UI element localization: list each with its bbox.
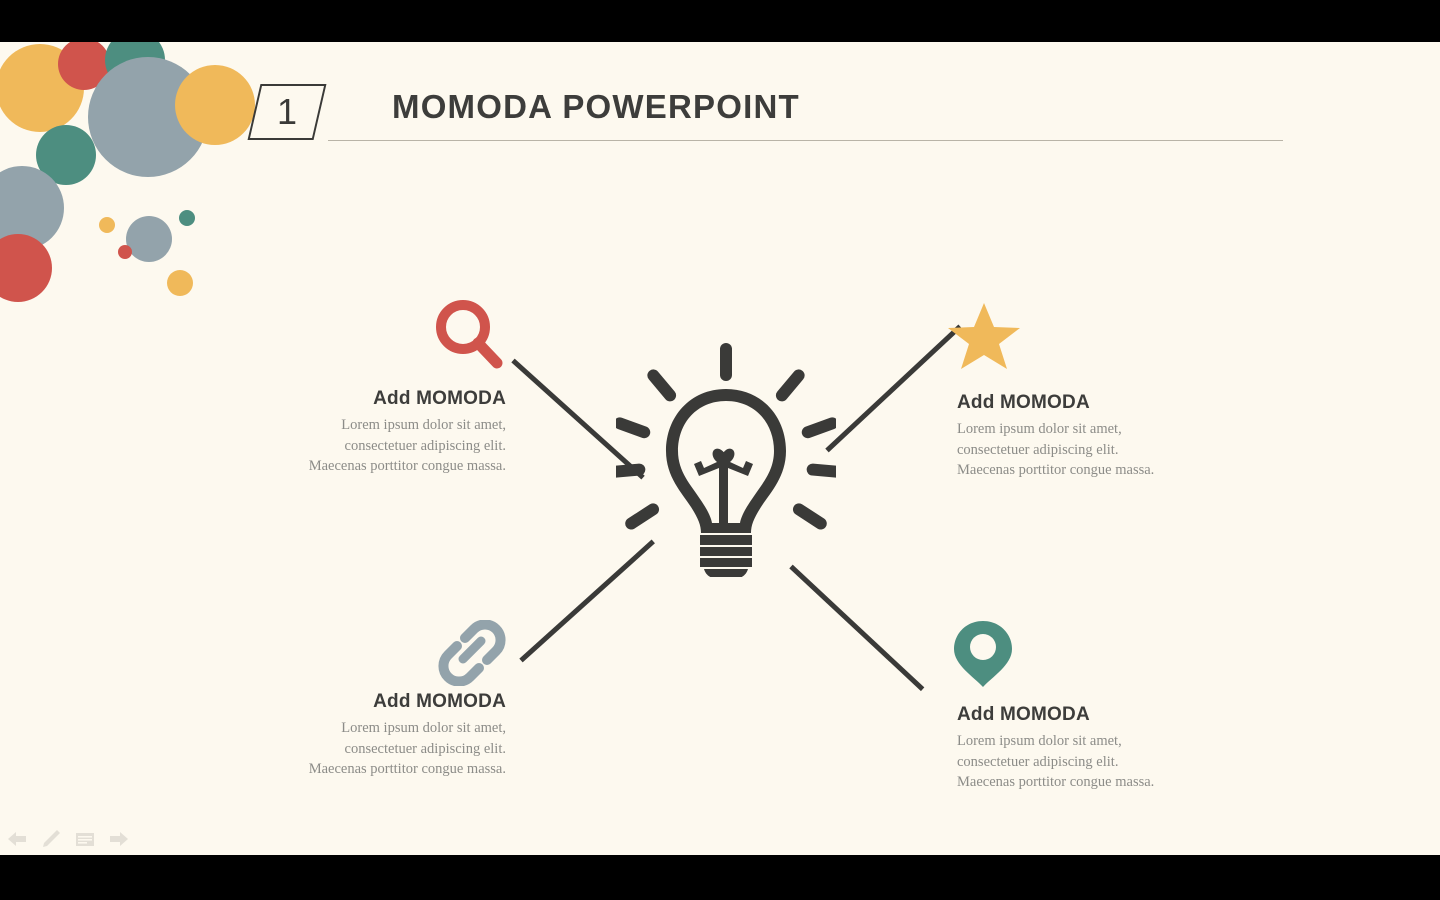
node-bottom-left-text: Add MOMODA Lorem ipsum dolor sit amet, c… [296,691,506,780]
lightbulb-icon [616,337,836,577]
map-pin-icon [952,619,1014,689]
node-heading: Add MOMODA [296,691,506,713]
node-heading: Add MOMODA [296,388,506,410]
letterbox-top [0,0,1440,42]
pen-icon[interactable] [40,828,62,850]
node-heading: Add MOMODA [957,704,1167,726]
node-heading: Add MOMODA [957,392,1167,414]
node-body: Lorem ipsum dolor sit amet, consectetuer… [296,718,506,780]
node-body: Lorem ipsum dolor sit amet, consectetuer… [957,419,1167,481]
infographic-diagram: Add MOMODA Lorem ipsum dolor sit amet, c… [0,42,1440,855]
node-body: Lorem ipsum dolor sit amet, consectetuer… [296,415,506,477]
connector-bottom-right [789,565,924,691]
connector-top-right [825,325,962,453]
search-icon [431,297,507,371]
star-icon [948,301,1020,371]
node-body: Lorem ipsum dolor sit amet, consectetuer… [957,731,1167,793]
arrow-left-icon[interactable] [6,828,28,850]
link-icon [436,620,508,686]
arrow-right-icon[interactable] [108,828,130,850]
node-top-left-text: Add MOMODA Lorem ipsum dolor sit amet, c… [296,388,506,477]
node-bottom-right-text: Add MOMODA Lorem ipsum dolor sit amet, c… [957,704,1167,793]
slide-toolbar[interactable] [6,825,146,853]
letterbox-bottom [0,855,1440,900]
notes-icon[interactable] [74,828,96,850]
node-top-right-text: Add MOMODA Lorem ipsum dolor sit amet, c… [957,392,1167,481]
slide-canvas: 1 MOMODA POWERPOINT [0,42,1440,855]
